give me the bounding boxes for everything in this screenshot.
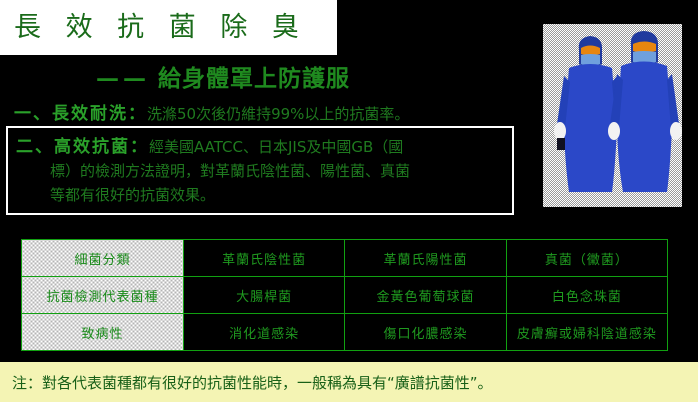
bacteria-classification-table: 細菌分類 革蘭氏陰性菌 革蘭氏陽性菌 真菌（黴菌） 抗菌檢測代表菌種 大腸桿菌 …: [21, 239, 668, 351]
bullet-1-lead: 長效耐洗：: [52, 104, 147, 124]
table-body: 細菌分類 革蘭氏陰性菌 革蘭氏陽性菌 真菌（黴菌） 抗菌檢測代表菌種 大腸桿菌 …: [22, 240, 668, 351]
presentation-slide: 長 效 抗 菌 除 臭 ——給身體罩上防護服 一、長效耐洗：洗滌50次後仍維持9…: [0, 0, 698, 402]
bullet-point-2-box: 二、高效抗菌：經美國AATCC、日本JIS及中國GB（國 標）的檢測方法證明，對…: [6, 126, 514, 215]
subtitle: ——給身體罩上防護服: [96, 59, 350, 93]
table-cell: 革蘭氏陰性菌: [184, 240, 345, 277]
subtitle-dash: ——: [96, 65, 158, 92]
bullet-1-body: 洗滌50次後仍維持99%以上的抗菌率。: [147, 105, 409, 123]
page-title: 長 效 抗 菌 除 臭: [14, 14, 307, 41]
bullet-2-headline: 二、高效抗菌：經美國AATCC、日本JIS及中國GB（國: [16, 132, 512, 157]
footer-note-bar: 注：對各代表菌種都有很好的抗菌性能時，一般稱為具有“廣譜抗菌性”。: [0, 362, 698, 402]
row-header: 抗菌檢測代表菌種: [22, 277, 184, 314]
bullet-point-2: 二、高效抗菌：經美國AATCC、日本JIS及中國GB（國 標）的檢測方法證明，對…: [8, 128, 512, 205]
footer-note-text: 注：對各代表菌種都有很好的抗菌性能時，一般稱為具有“廣譜抗菌性”。: [12, 372, 493, 393]
row-header: 致病性: [22, 314, 184, 351]
bullet-1-number: 一、: [14, 104, 52, 124]
bullet-2-number: 二、: [16, 137, 54, 157]
bullet-point-1: 一、長效耐洗：洗滌50次後仍維持99%以上的抗菌率。: [14, 99, 409, 124]
table-cell: 皮膚癬或婦科陰道感染: [506, 314, 667, 351]
table-cell: 大腸桿菌: [184, 277, 345, 314]
table-cell: 白色念珠菌: [506, 277, 667, 314]
table-row: 細菌分類 革蘭氏陰性菌 革蘭氏陽性菌 真菌（黴菌）: [22, 240, 668, 277]
table-cell: 金黃色葡萄球菌: [345, 277, 506, 314]
table-cell: 真菌（黴菌）: [506, 240, 667, 277]
bullet-2-lead: 高效抗菌：: [54, 137, 149, 157]
table-cell: 革蘭氏陽性菌: [345, 240, 506, 277]
table-cell: 消化道感染: [184, 314, 345, 351]
row-header: 細菌分類: [22, 240, 184, 277]
table-row: 致病性 消化道感染 傷口化膿感染 皮膚癬或婦科陰道感染: [22, 314, 668, 351]
protective-suit-photo: [543, 24, 682, 207]
table-row: 抗菌檢測代表菌種 大腸桿菌 金黃色葡萄球菌 白色念珠菌: [22, 277, 668, 314]
bullet-2-body-line3: 等都有很好的抗菌效果。: [16, 184, 512, 205]
table-cell: 傷口化膿感染: [345, 314, 506, 351]
title-banner: 長 效 抗 菌 除 臭: [0, 0, 337, 55]
subtitle-text: 給身體罩上防護服: [158, 65, 350, 92]
photo-illustration: [543, 24, 682, 207]
bullet-2-body-line1: 經美國AATCC、日本JIS及中國GB（國: [149, 138, 403, 156]
bullet-2-body-line2: 標）的檢測方法證明，對革蘭氏陰性菌、陽性菌、真菌: [16, 160, 512, 181]
